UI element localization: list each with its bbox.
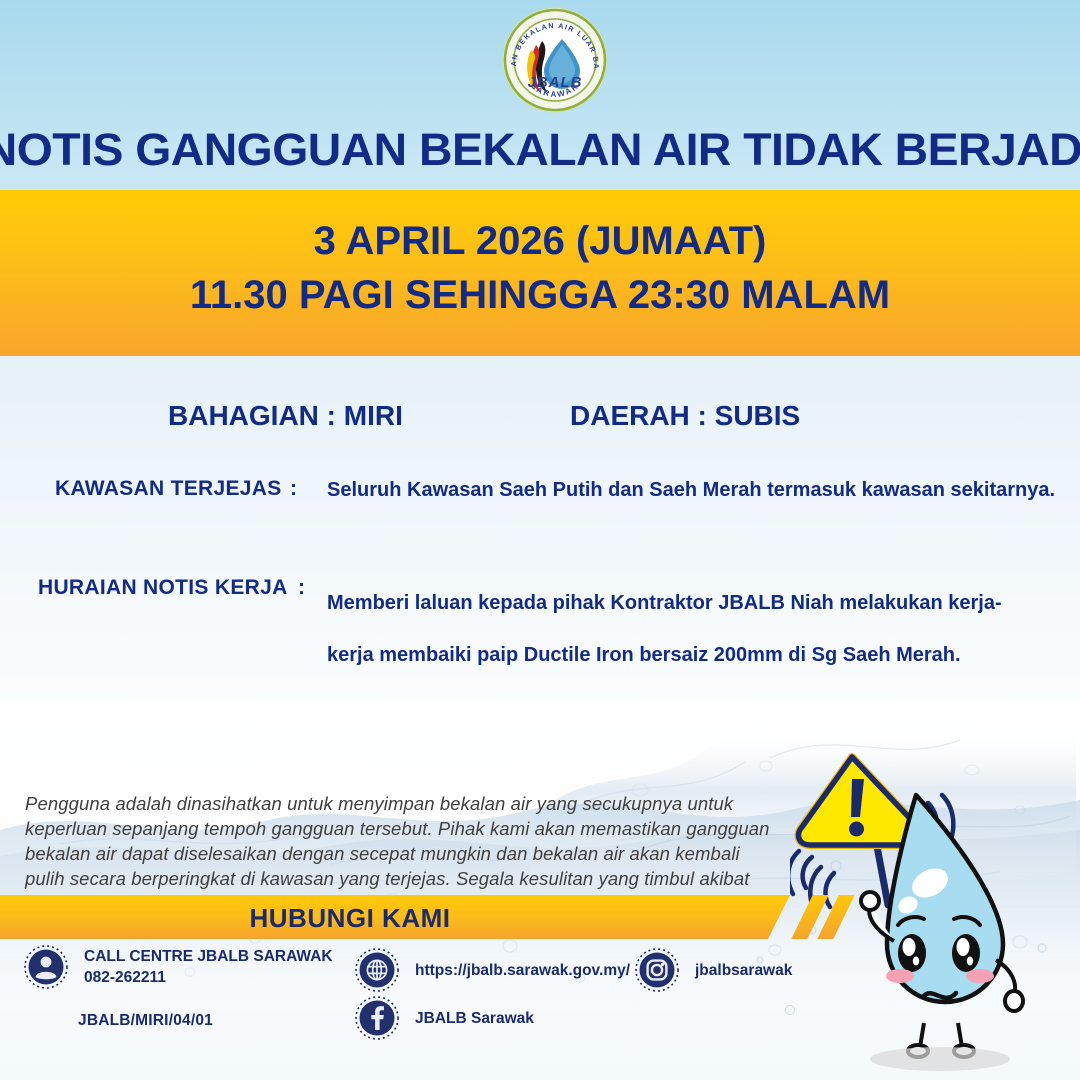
globe-icon <box>355 948 399 992</box>
location-row: BAHAGIAN : MIRI DAERAH : SUBIS <box>0 400 1080 440</box>
affected-area-label: KAWASAN TERJEJAS <box>55 477 282 501</box>
contact-website[interactable]: https://jbalb.sarawak.gov.my/ <box>355 948 630 992</box>
contact-call-centre[interactable]: CALL CENTRE JBALB SARAWAK 082-262211 <box>24 945 333 989</box>
work-description-row: HURAIAN NOTIS KERJA : Memberi laluan kep… <box>0 573 1080 683</box>
jbalb-logo-icon: JBALB JABATAN BEKALAN AIR LUAR BANDAR SA… <box>500 5 610 115</box>
affected-area-row: KAWASAN TERJEJAS : Seluruh Kawasan Saeh … <box>0 475 1080 515</box>
warning-triangle-sign <box>799 757 922 845</box>
work-description-label: HURAIAN NOTIS KERJA <box>38 576 288 600</box>
facebook-icon <box>355 996 399 1040</box>
website-label: https://jbalb.sarawak.gov.my/ <box>415 960 630 981</box>
page-title: NOTIS GANGGUAN BEKALAN AIR TIDAK BERJADU… <box>0 124 1080 176</box>
jbalb-logo: JBALB JABATAN BEKALAN AIR LUAR BANDAR SA… <box>500 5 610 115</box>
contact-facebook[interactable]: JBALB Sarawak <box>355 996 534 1040</box>
disruption-date: 3 APRIL 2026 (JUMAAT) <box>0 215 1080 267</box>
division-label: BAHAGIAN : MIRI <box>168 400 403 432</box>
instagram-icon <box>635 948 679 992</box>
person-icon <box>24 945 68 989</box>
contact-bar-title: HUBUNGI KAMI <box>0 903 700 934</box>
work-description-colon: : <box>298 576 305 600</box>
instagram-label: jbalbsarawak <box>695 960 792 981</box>
facebook-label: JBALB Sarawak <box>415 1008 534 1029</box>
contact-instagram[interactable]: jbalbsarawak <box>635 948 792 992</box>
call-centre-line1: CALL CENTRE JBALB SARAWAK <box>84 946 333 967</box>
work-description-value: Memberi laluan kepada pihak Kontraktor J… <box>327 577 1027 681</box>
date-banner: 3 APRIL 2026 (JUMAAT) 11.30 PAGI SEHINGG… <box>0 215 1080 323</box>
district-label: DAERAH : SUBIS <box>570 400 800 432</box>
disruption-time: 11.30 PAGI SEHINGGA 23:30 MALAM <box>0 267 1080 323</box>
affected-area-colon: : <box>290 477 297 501</box>
affected-area-value: Seluruh Kawasan Saeh Putih dan Saeh Mera… <box>327 478 1055 502</box>
reference-number: JBALB/MIRI/04/01 <box>78 1012 213 1030</box>
water-disruption-notice-poster: JBALB JABATAN BEKALAN AIR LUAR BANDAR SA… <box>0 0 1080 1080</box>
call-centre-line2: 082-262211 <box>84 967 333 988</box>
